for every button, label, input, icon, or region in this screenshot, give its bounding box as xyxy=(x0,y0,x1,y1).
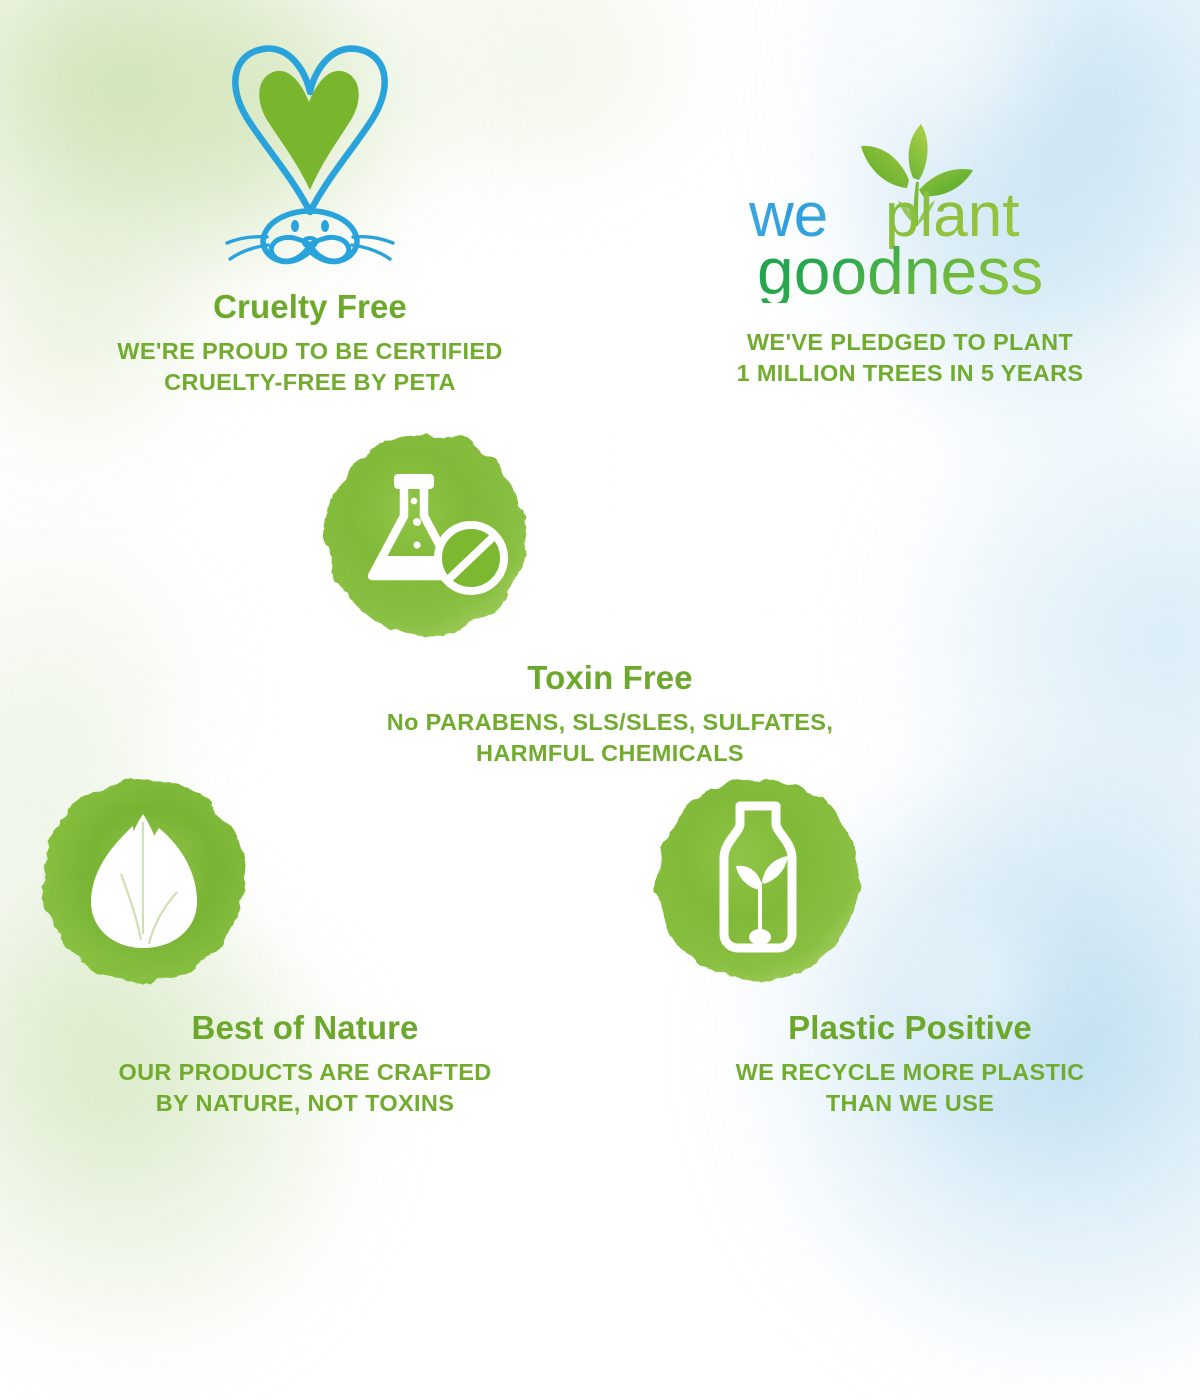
plastic-positive-badge xyxy=(640,762,1180,998)
description-line: CRUELTY-FREE BY PETA xyxy=(30,367,590,398)
description-line: WE'RE PROUD TO BE CERTIFIED xyxy=(30,336,590,367)
feature-title: Toxin Free xyxy=(310,660,910,696)
description-line: No PARABENS, SLS/SLES, SULFATES, xyxy=(310,707,910,738)
feature-toxin-free: Toxin Free No PARABENS, SLS/SLES, SULFAT… xyxy=(310,418,910,769)
logo-word-goodness: goodness xyxy=(757,234,1043,303)
bottle-with-sprout-icon xyxy=(640,762,876,998)
feature-cruelty-free: Cruelty Free WE'RE PROUD TO BE CERTIFIED… xyxy=(30,40,590,398)
description-line: 1 MILLION TREES IN 5 YEARS xyxy=(640,358,1180,389)
feature-description: No PARABENS, SLS/SLES, SULFATES, HARMFUL… xyxy=(310,707,910,769)
feature-description: OUR PRODUCTS ARE CRAFTED BY NATURE, NOT … xyxy=(25,1057,585,1119)
description-line: BY NATURE, NOT TOXINS xyxy=(25,1088,585,1119)
feature-title: Cruelty Free xyxy=(30,289,590,325)
feature-description: WE'RE PROUD TO BE CERTIFIED CRUELTY-FREE… xyxy=(30,336,590,398)
description-line: WE RECYCLE MORE PLASTIC xyxy=(640,1057,1180,1088)
bunny-heart-icon xyxy=(205,40,415,275)
feature-we-plant-goodness: we plant goodness WE'VE PLEDGED TO PLANT… xyxy=(640,118,1180,389)
feature-description: WE'VE PLEDGED TO PLANT 1 MILLION TREES I… xyxy=(640,327,1180,389)
we-plant-goodness-sapling-logo: we plant goodness xyxy=(640,118,1180,303)
description-line: OUR PRODUCTS ARE CRAFTED xyxy=(25,1057,585,1088)
flask-no-entry-icon xyxy=(310,418,542,650)
best-of-nature-badge xyxy=(25,762,585,998)
toxin-free-badge xyxy=(310,418,910,650)
feature-description: WE RECYCLE MORE PLASTIC THAN WE USE xyxy=(640,1057,1180,1119)
peta-cruelty-free-bunny-logo xyxy=(30,40,590,275)
description-line: THAN WE USE xyxy=(640,1088,1180,1119)
feature-title: Plastic Positive xyxy=(640,1010,1180,1046)
feature-title: Best of Nature xyxy=(25,1010,585,1046)
we-plant-goodness-logotype: we plant goodness xyxy=(735,118,1085,303)
description-line: WE'VE PLEDGED TO PLANT xyxy=(640,327,1180,358)
three-leaves-icon xyxy=(25,762,261,998)
feature-plastic-positive: Plastic Positive WE RECYCLE MORE PLASTIC… xyxy=(640,762,1180,1119)
feature-best-of-nature: Best of Nature OUR PRODUCTS ARE CRAFTED … xyxy=(25,762,585,1119)
